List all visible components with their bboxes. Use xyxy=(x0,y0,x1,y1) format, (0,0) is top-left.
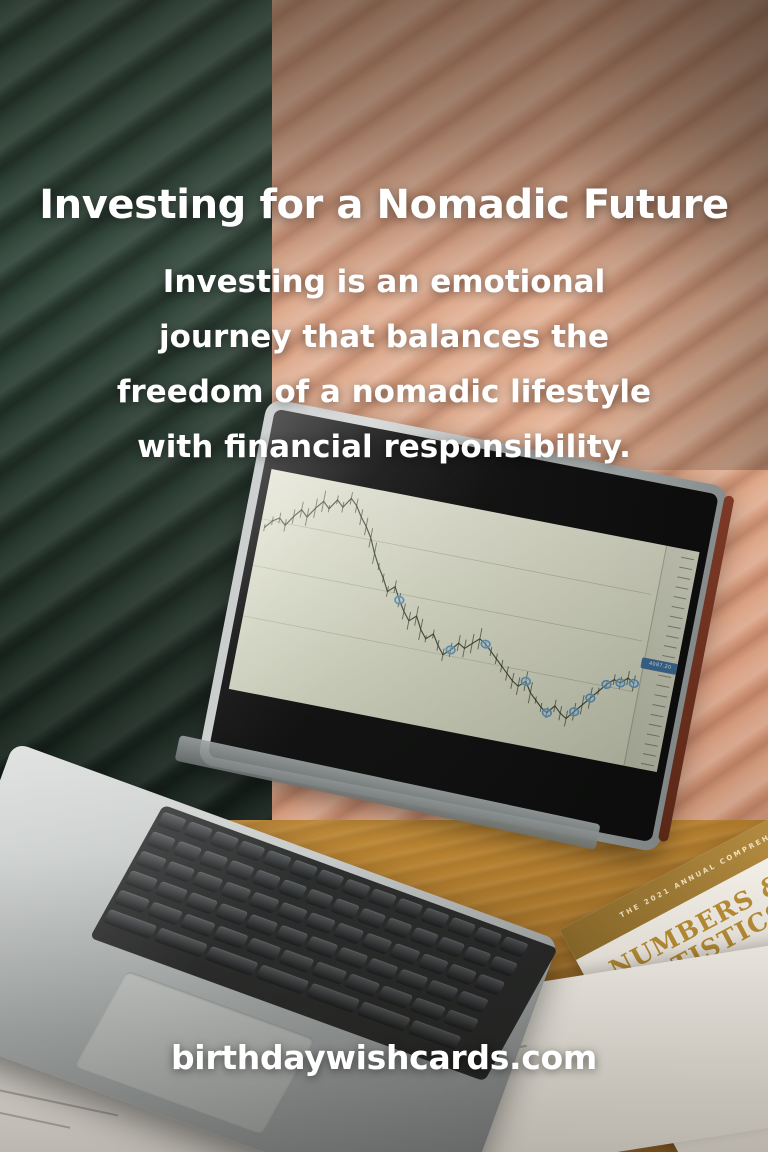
subcopy: Investing is an emotionaljourney that ba… xyxy=(56,255,712,475)
text-overlay: Investing for a Nomadic Future Investing… xyxy=(0,0,768,1152)
social-card: Finance Report GREAT COMPANY PROFIT AND … xyxy=(0,0,768,1152)
subcopy-line-2: journey that balances the xyxy=(56,310,712,365)
subcopy-line-4: with financial responsibility. xyxy=(56,420,712,475)
headline: Investing for a Nomadic Future xyxy=(0,182,768,228)
subcopy-line-3: freedom of a nomadic lifestyle xyxy=(56,365,712,420)
subcopy-line-1: Investing is an emotional xyxy=(56,255,712,310)
watermark: birthdaywishcards.com xyxy=(0,1038,768,1077)
